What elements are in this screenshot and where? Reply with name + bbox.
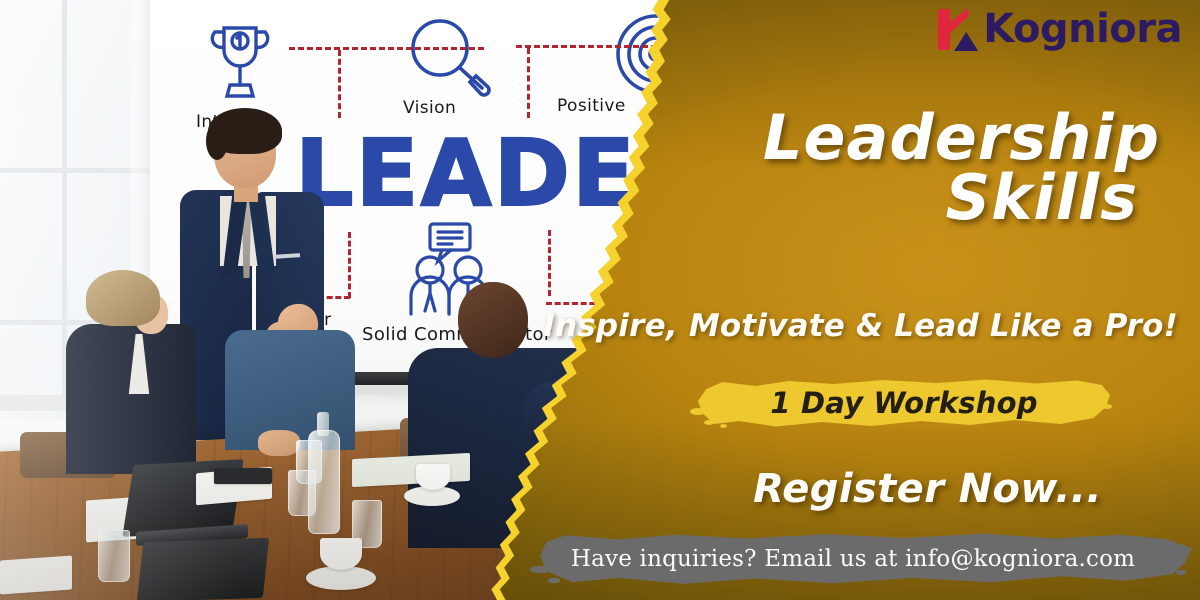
water-bottle xyxy=(308,430,340,534)
coffee-cup-1 xyxy=(416,464,450,490)
brand-name: Kogniora xyxy=(983,9,1182,49)
connector-dash-2 xyxy=(516,45,666,48)
page-title: Leadership Skills xyxy=(763,108,1160,227)
event-promo-banner: Integrity Vision Positive xyxy=(0,0,1200,600)
register-cta[interactable]: Register Now... xyxy=(753,466,1102,512)
contact-banner: Have inquiries? Email us at info@kognior… xyxy=(540,532,1192,586)
whiteboard-label-vision: Vision xyxy=(403,98,456,118)
connector-dash-1 xyxy=(289,47,484,50)
contact-text: Have inquiries? Email us at info@kognior… xyxy=(540,532,1192,586)
connector-dash-5 xyxy=(348,232,351,298)
seated-attendee-left xyxy=(60,270,210,470)
coffee-cup-2 xyxy=(320,538,362,570)
trophy-icon xyxy=(200,18,280,110)
whiteboard-label-positive: Positive xyxy=(557,96,626,116)
laptop-front xyxy=(137,538,269,600)
workshop-badge-label: 1 Day Workshop xyxy=(698,378,1110,428)
k-monogram-icon xyxy=(936,6,980,52)
paper-front-left xyxy=(0,555,72,594)
connector-dash-3 xyxy=(338,50,341,118)
workshop-badge: 1 Day Workshop xyxy=(698,378,1110,428)
standing-attendee-hand xyxy=(258,430,300,456)
tagline: Inspire, Motivate & Lead Like a Pro! xyxy=(543,308,1178,344)
water-glass-4 xyxy=(98,530,130,582)
phone-on-table xyxy=(214,468,272,484)
connector-dash-4 xyxy=(527,48,530,118)
magnifier-icon xyxy=(398,14,502,98)
brand-logo[interactable]: Kogniora xyxy=(936,6,1182,52)
headline-line-2: Skills xyxy=(763,168,1160,228)
